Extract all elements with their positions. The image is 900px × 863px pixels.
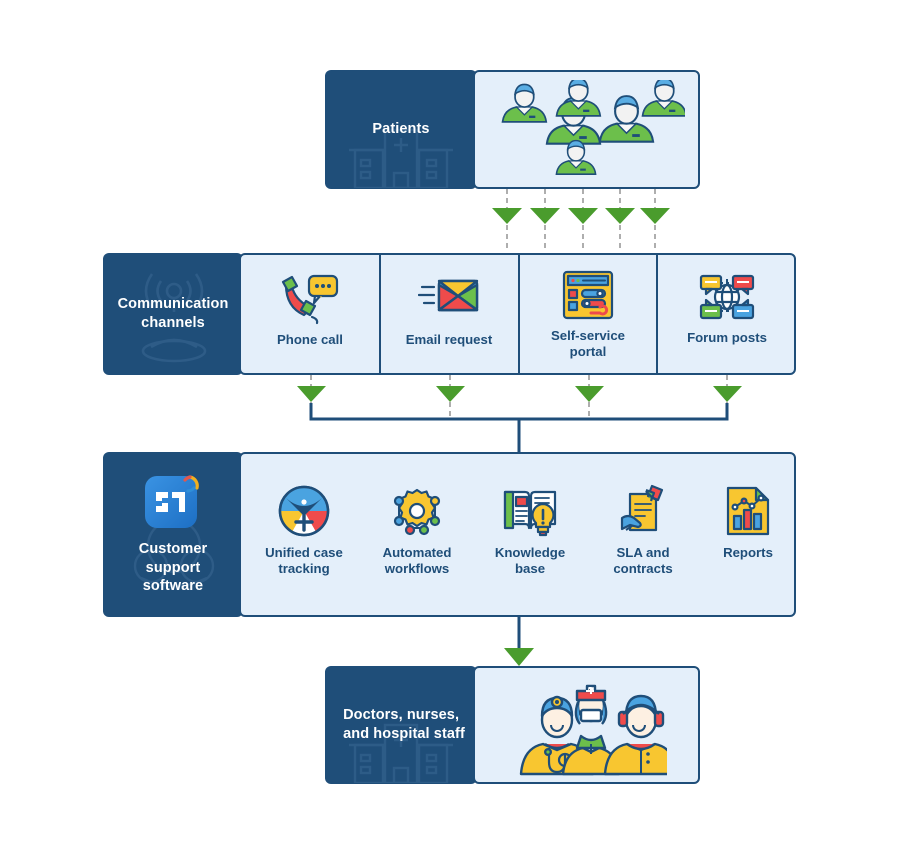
software-feature-label: SLA and contracts <box>613 545 672 577</box>
healthcare-support-flow-diagram: Patients <box>0 0 900 863</box>
connector-patients-arrowheads <box>492 208 670 224</box>
staff-label: Doctors, nurses, and hospital staff <box>329 706 473 743</box>
channel-item-forum-posts[interactable]: Forum posts <box>658 271 796 346</box>
channels-items-panel: Phone call Email <box>239 253 796 375</box>
patients-label: Patients <box>364 120 437 139</box>
channel-item-self-service-portal[interactable]: Self-service portal <box>519 269 657 360</box>
patients-group-icon <box>493 80 685 182</box>
channel-item-email-request[interactable]: Email request <box>380 273 518 348</box>
patients-row: Patients <box>325 70 700 189</box>
email-envelope-icon <box>418 273 480 325</box>
channel-item-label: Self-service portal <box>551 328 625 360</box>
software-feature-automated-workflows[interactable]: Automated workflows <box>360 484 474 577</box>
sla-contracts-icon <box>616 482 670 538</box>
connector-merge-bus <box>311 403 727 452</box>
software-feature-unified-case-tracking[interactable]: Unified case tracking <box>247 484 361 577</box>
software-feature-label: Automated workflows <box>383 545 452 577</box>
phone-call-icon <box>279 273 341 325</box>
forum-posts-globe-icon <box>696 271 758 323</box>
software-feature-sla-and-contracts[interactable]: SLA and contracts <box>586 482 700 577</box>
medical-staff-icon <box>515 678 667 778</box>
patients-label-panel: Patients <box>325 70 477 189</box>
staff-row: Doctors, nurses, and hospital staff <box>325 666 700 784</box>
support-software-logo-icon <box>143 472 203 532</box>
channels-label: Communication channels <box>110 295 237 332</box>
connector-patients-to-channels <box>507 189 655 252</box>
automated-workflows-gear-icon <box>390 484 444 538</box>
knowledge-base-book-icon <box>501 484 559 538</box>
self-service-portal-icon <box>561 269 615 321</box>
software-label: Customer support software <box>131 540 215 596</box>
software-feature-knowledge-base[interactable]: Knowledge base <box>473 484 587 577</box>
software-feature-label: Knowledge base <box>495 545 565 577</box>
connector-channels-arrowheads <box>297 386 742 402</box>
unified-case-tracking-icon <box>277 484 331 538</box>
software-logo-and-label: Customer support software <box>103 472 243 596</box>
channel-item-label: Forum posts <box>687 330 767 346</box>
software-feature-reports[interactable]: Reports <box>691 484 796 561</box>
software-feature-label: Unified case tracking <box>265 545 343 577</box>
software-label-panel: Customer support software <box>103 452 243 617</box>
customer-support-software-row: Customer support software Unifi <box>103 452 796 617</box>
software-features-panel: Unified case tracking <box>239 452 796 617</box>
connector-channels-to-software <box>311 375 727 418</box>
software-feature-label: Reports <box>723 545 773 561</box>
staff-label-panel: Doctors, nurses, and hospital staff <box>325 666 477 784</box>
communication-channels-row: Communication channels <box>103 253 796 375</box>
connector-staff-arrowhead <box>504 648 534 666</box>
staff-illustration-panel <box>473 666 700 784</box>
reports-chart-icon <box>724 484 772 538</box>
channel-item-label: Phone call <box>277 332 343 348</box>
patients-illustration-panel <box>473 70 700 189</box>
channel-item-label: Email request <box>406 332 493 348</box>
channels-label-panel: Communication channels <box>103 253 243 375</box>
channel-item-phone-call[interactable]: Phone call <box>241 273 379 348</box>
